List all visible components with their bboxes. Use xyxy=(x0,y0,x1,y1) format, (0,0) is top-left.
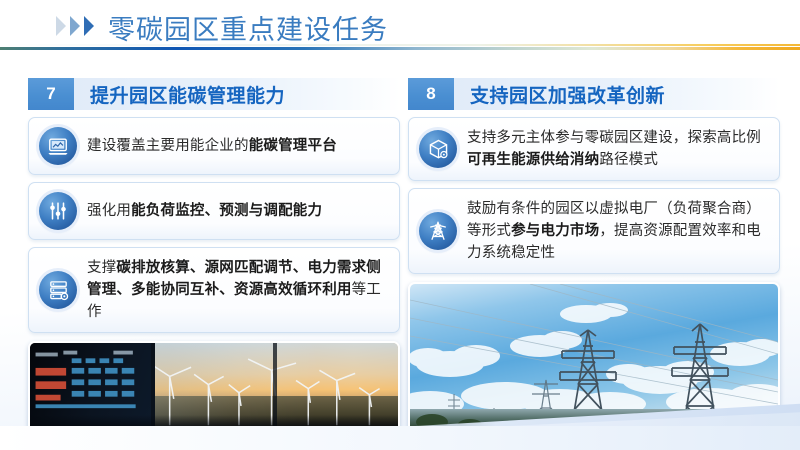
section-7-item-3-text: 支撑碳排放核算、源网匹配调节、电力需求侧管理、多能协同互补、资源高效循环利用等工… xyxy=(87,257,387,323)
control-room-dashboard-graphic xyxy=(30,343,155,435)
section-8-title: 支持园区加强改革创新 xyxy=(454,78,780,110)
slide-header: 零碳园区重点建设任务 xyxy=(0,0,800,52)
section-7-item-1-text: 建设覆盖主要用能企业的能碳管理平台 xyxy=(87,135,387,157)
section-8-item-1[interactable]: 支持多元主体参与零碳园区建设，探索高比例可再生能源供给消纳路径模式 xyxy=(408,117,780,181)
section-7-number-badge: 7 xyxy=(28,78,74,110)
slide-canvas: 零碳园区重点建设任务 7 提升园区能碳管理能力 建设覆盖主要用能企业的能碳管理平… xyxy=(0,0,800,450)
section-7-item-2-text: 强化用能负荷监控、预测与调配能力 xyxy=(87,200,387,222)
power-pylon-icon xyxy=(419,212,457,250)
section-7-title: 提升园区能碳管理能力 xyxy=(74,78,400,110)
server-gear-icon xyxy=(39,271,77,309)
section-8-item-2-text: 鼓励有条件的园区以虚拟电厂（负荷聚合商）等形式参与电力市场，提高资源配置效率和电… xyxy=(467,198,767,264)
cube-gear-icon xyxy=(419,130,457,168)
section-8-item-1-text: 支持多元主体参与零碳园区建设，探索高比例可再生能源供给消纳路径模式 xyxy=(467,127,767,171)
transmission-towers-photo xyxy=(408,282,780,436)
header-rule xyxy=(0,47,800,50)
section-8-item-2[interactable]: 鼓励有条件的园区以虚拟电厂（负荷聚合商）等形式参与电力市场，提高资源配置效率和电… xyxy=(408,188,780,274)
page-title: 零碳园区重点建设任务 xyxy=(108,8,388,47)
section-8-number-badge: 8 xyxy=(408,78,454,110)
double-chevron-right-icon xyxy=(55,15,96,37)
section-7-item-1[interactable]: 建设覆盖主要用能企业的能碳管理平台 xyxy=(28,117,400,175)
sliders-icon xyxy=(39,192,77,230)
section-7-header: 7 提升园区能碳管理能力 xyxy=(28,78,400,110)
section-8-column: 8 支持园区加强改革创新 支持多元主体参与零碳园区建设，探索高比例可再生能源供给… xyxy=(408,78,780,436)
section-7-item-2[interactable]: 强化用能负荷监控、预测与调配能力 xyxy=(28,182,400,240)
section-8-header: 8 支持园区加强改革创新 xyxy=(408,78,780,110)
section-7-column: 7 提升园区能碳管理能力 建设覆盖主要用能企业的能碳管理平台 xyxy=(28,78,400,437)
monitor-chart-icon xyxy=(39,127,77,165)
wind-farm-control-room-photo xyxy=(28,341,400,437)
section-7-item-3[interactable]: 支撑碳排放核算、源网匹配调节、电力需求侧管理、多能协同互补、资源高效循环利用等工… xyxy=(28,247,400,333)
wind-turbines-graphic xyxy=(133,354,398,436)
trees-graphic xyxy=(410,284,778,436)
